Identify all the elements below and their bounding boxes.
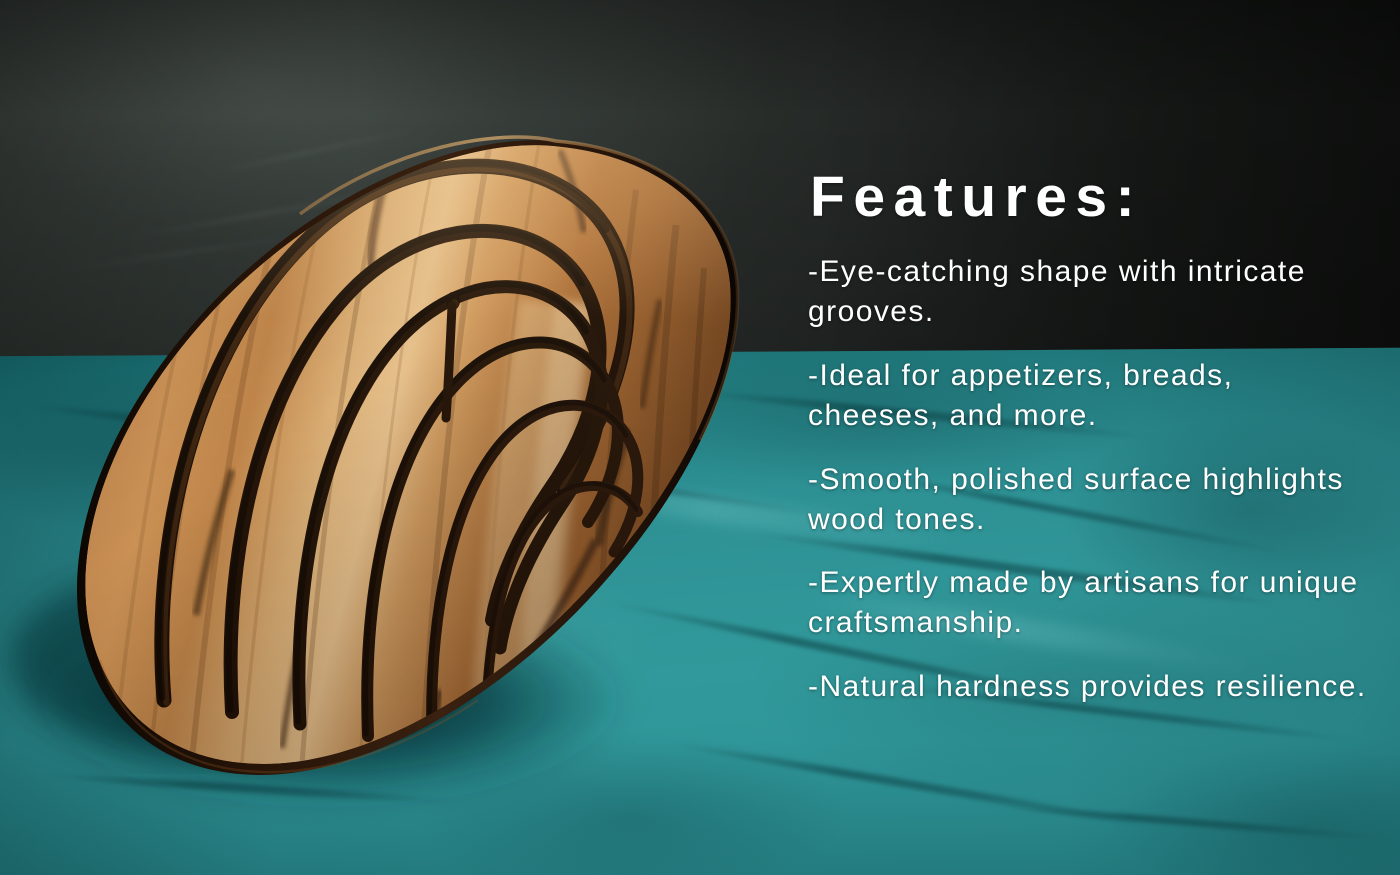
marketing-image-canvas: Features: -Eye-catching shape with intri… (0, 0, 1400, 875)
feature-item: -Eye-catching shape with intricate groov… (808, 252, 1368, 332)
feature-item: -Ideal for appetizers, breads, cheeses, … (808, 356, 1368, 436)
surface-highlight (221, 584, 562, 626)
surface-vein (993, 803, 1392, 842)
surface-vein (103, 668, 462, 709)
page-title: Features: (810, 168, 1368, 226)
surface-vein (666, 739, 1160, 831)
feature-list: -Eye-catching shape with intricate groov… (808, 252, 1368, 707)
surface-vein (21, 401, 439, 459)
surface-vein (313, 434, 828, 519)
feature-item: -Natural hardness provides resilience. (808, 667, 1368, 707)
feature-copy-block: Features: -Eye-catching shape with intri… (808, 168, 1368, 707)
feature-item: -Expertly made by artisans for unique cr… (808, 563, 1368, 643)
feature-item: -Smooth, polished surface highlights woo… (808, 460, 1368, 540)
surface-vein (43, 771, 463, 806)
